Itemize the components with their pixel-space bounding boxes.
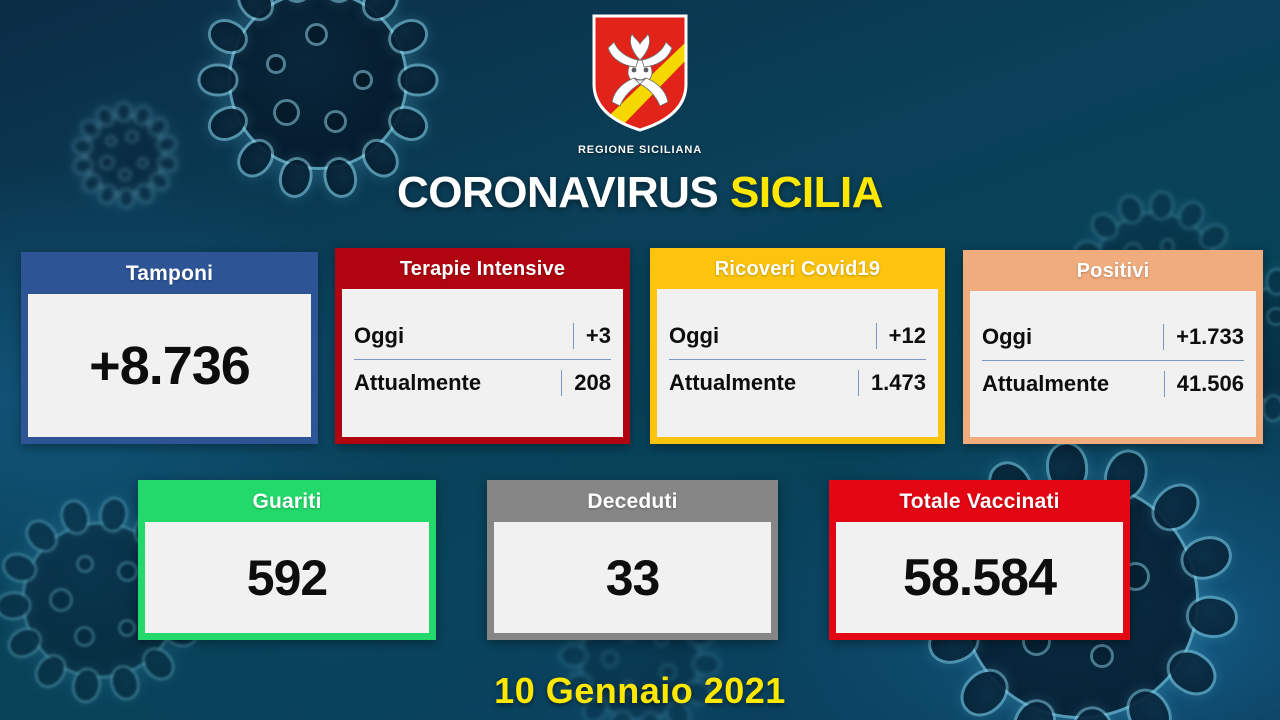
table-row: Oggi +12	[669, 313, 926, 359]
title-main: CORONAVIRUS	[397, 168, 718, 217]
row-label-oggi: Oggi	[669, 323, 876, 349]
row-value-oggi: +3	[573, 323, 611, 349]
header-block: REGIONE SICILIANA	[0, 12, 1280, 156]
table-row: Attualmente 208	[354, 359, 611, 405]
card-body-ricoveri-covid19: Oggi +12 Attualmente 1.473	[657, 289, 938, 437]
stat-card-ricoveri-covid19: Ricoveri Covid19 Oggi +12 Attualmente 1.…	[650, 248, 945, 444]
row-label-oggi: Oggi	[354, 323, 573, 349]
card-body-deceduti: 33	[494, 522, 771, 633]
row-value-oggi: +12	[876, 323, 926, 349]
stat-value-guariti: 592	[247, 553, 327, 603]
table-row: Oggi +1.733	[982, 314, 1244, 360]
row-label-oggi: Oggi	[982, 324, 1163, 350]
card-body-guariti: 592	[145, 522, 429, 633]
sicily-coat-of-arms-icon	[588, 12, 692, 139]
table-row: Oggi +3	[354, 313, 611, 359]
stat-card-deceduti: Deceduti 33	[487, 480, 778, 640]
title-accent: SICILIA	[730, 168, 883, 217]
row-label-attualmente: Attualmente	[669, 370, 858, 396]
card-body-terapie-intensive: Oggi +3 Attualmente 208	[342, 289, 623, 437]
stat-value-tamponi: +8.736	[89, 339, 250, 393]
stat-card-guariti: Guariti 592	[138, 480, 436, 640]
card-title-terapie-intensive: Terapie Intensive	[335, 248, 630, 289]
row-value-attualmente: 208	[561, 370, 611, 396]
card-body-totale-vaccinati: 58.584	[836, 522, 1123, 633]
row-value-oggi: +1.733	[1163, 324, 1244, 350]
table-row: Attualmente 41.506	[982, 360, 1244, 406]
table-row: Attualmente 1.473	[669, 359, 926, 405]
page-title: CORONAVIRUS SICILIA	[0, 168, 1280, 218]
row-label-attualmente: Attualmente	[354, 370, 561, 396]
regione-siciliana-label: REGIONE SICILIANA	[0, 144, 1280, 156]
card-title-deceduti: Deceduti	[487, 480, 778, 522]
stat-card-tamponi: Tamponi +8.736	[21, 252, 318, 444]
card-body-tamponi: +8.736	[28, 294, 311, 437]
stat-card-terapie-intensive: Terapie Intensive Oggi +3 Attualmente 20…	[335, 248, 630, 444]
card-title-totale-vaccinati: Totale Vaccinati	[829, 480, 1130, 522]
stat-value-deceduti: 33	[606, 553, 660, 603]
card-title-guariti: Guariti	[138, 480, 436, 522]
coronavirus-sicilia-infographic: REGIONE SICILIANA CORONAVIRUS SICILIA Ta…	[0, 0, 1280, 720]
card-body-positivi: Oggi +1.733 Attualmente 41.506	[970, 291, 1256, 437]
row-value-attualmente: 1.473	[858, 370, 926, 396]
card-title-ricoveri-covid19: Ricoveri Covid19	[650, 248, 945, 289]
stat-card-positivi: Positivi Oggi +1.733 Attualmente 41.506	[963, 250, 1263, 444]
row-value-attualmente: 41.506	[1164, 371, 1244, 397]
report-date: 10 Gennaio 2021	[0, 670, 1280, 712]
row-label-attualmente: Attualmente	[982, 371, 1164, 397]
card-title-positivi: Positivi	[963, 250, 1263, 291]
card-title-tamponi: Tamponi	[21, 252, 318, 294]
stat-card-totale-vaccinati: Totale Vaccinati 58.584	[829, 480, 1130, 640]
stat-value-totale-vaccinati: 58.584	[903, 552, 1056, 604]
